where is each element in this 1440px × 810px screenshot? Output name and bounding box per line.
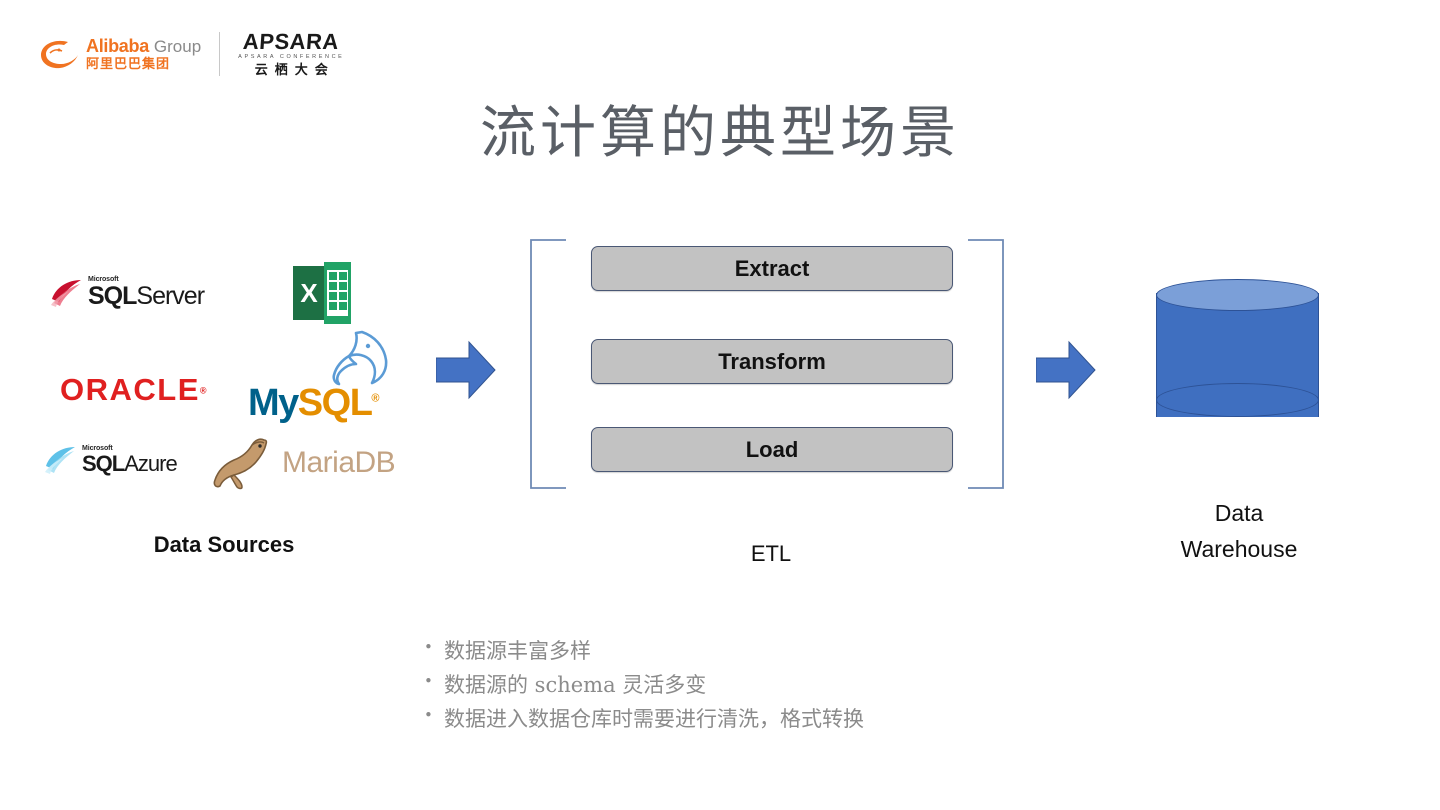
sql-server-server-label: Server	[136, 282, 204, 310]
apsara-conference-logo: APSARA APSARA CONFERENCE 云栖大会	[238, 31, 344, 78]
bullet-item: • 数据源的 schema 灵活多变	[424, 668, 1124, 702]
alibaba-group-word: Group	[154, 38, 201, 55]
sql-azure-azure-label: Azure	[124, 451, 176, 476]
sql-azure-mark-icon	[42, 444, 78, 476]
sql-server-mark-icon	[48, 277, 84, 309]
header-logos: Alibaba Group 阿里巴巴集团 APSARA APSARA CONFE…	[38, 26, 344, 82]
logo-sql-azure: Microsoft SQLAzure	[42, 444, 177, 476]
bullet-item: • 数据源丰富多样	[424, 634, 1124, 668]
etl-caption: ETL	[690, 541, 852, 567]
right-arrow-icon	[1036, 339, 1096, 401]
sql-azure-sql-label: SQL	[82, 451, 124, 476]
bullet-dot-icon: •	[424, 634, 444, 661]
cylinder-bottom	[1156, 383, 1319, 417]
logo-mysql: MySQL®	[248, 330, 440, 422]
bullet-dot-icon: •	[424, 668, 444, 695]
mariadb-wordmark: MariaDB	[282, 446, 395, 480]
mysql-dolphin-icon	[300, 330, 440, 390]
mysql-sql-label: SQL	[298, 382, 372, 424]
alibaba-group-logo: Alibaba Group 阿里巴巴集团	[38, 37, 201, 71]
arrow-etl-to-warehouse	[1036, 339, 1096, 406]
bullet-item: • 数据进入数据仓库时需要进行清洗，格式转换	[424, 702, 1124, 736]
data-warehouse-caption: Data Warehouse	[1130, 496, 1348, 567]
logo-oracle: ORACLE®	[60, 372, 208, 408]
mariadb-seal-icon	[208, 434, 280, 492]
alibaba-wordmark: Alibaba	[86, 37, 149, 55]
bullet-list: • 数据源丰富多样 • 数据源的 schema 灵活多变 • 数据进入数据仓库时…	[424, 634, 1124, 737]
apsara-chinese-name: 云栖大会	[248, 64, 335, 77]
apsara-subtitle: APSARA CONFERENCE	[238, 55, 344, 61]
data-sources-caption: Data Sources	[104, 532, 344, 558]
excel-letter: X	[300, 278, 318, 308]
bullet-text: 数据源的 schema 灵活多变	[444, 668, 706, 702]
oracle-wordmark: ORACLE	[60, 372, 200, 407]
logo-divider	[219, 32, 220, 76]
data-warehouse-cylinder	[1156, 279, 1319, 431]
data-source-logos: Microsoft SQLServer X ORACLE®	[40, 262, 390, 497]
apsara-wordmark: APSARA	[243, 31, 340, 53]
logo-mariadb: MariaDB	[208, 434, 395, 492]
bullet-text: 数据进入数据仓库时需要进行清洗，格式转换	[444, 702, 864, 736]
etl-step-load[interactable]: Load	[591, 427, 953, 472]
cylinder-top	[1156, 279, 1319, 311]
etl-step-extract[interactable]: Extract	[591, 246, 953, 291]
logo-sql-server: Microsoft SQLServer	[48, 276, 204, 309]
etl-step-transform[interactable]: Transform	[591, 339, 953, 384]
logo-excel: X	[293, 262, 351, 329]
alibaba-chinese-name: 阿里巴巴集团	[86, 58, 201, 71]
bullet-text: 数据源丰富多样	[444, 634, 591, 668]
right-arrow-icon	[436, 339, 496, 401]
mysql-my-label: My	[248, 382, 298, 424]
arrow-sources-to-etl	[436, 339, 496, 406]
alibaba-mark-icon	[38, 37, 80, 71]
sql-server-sql-label: SQL	[88, 282, 136, 310]
slide-title: 流计算的典型场景	[0, 88, 1440, 169]
excel-icon: X	[293, 262, 351, 324]
etl-diagram: Extract Transform Load	[528, 238, 1006, 490]
data-warehouse-caption-line1: Data	[1130, 496, 1348, 532]
data-warehouse-caption-line2: Warehouse	[1130, 532, 1348, 568]
bullet-dot-icon: •	[424, 702, 444, 729]
